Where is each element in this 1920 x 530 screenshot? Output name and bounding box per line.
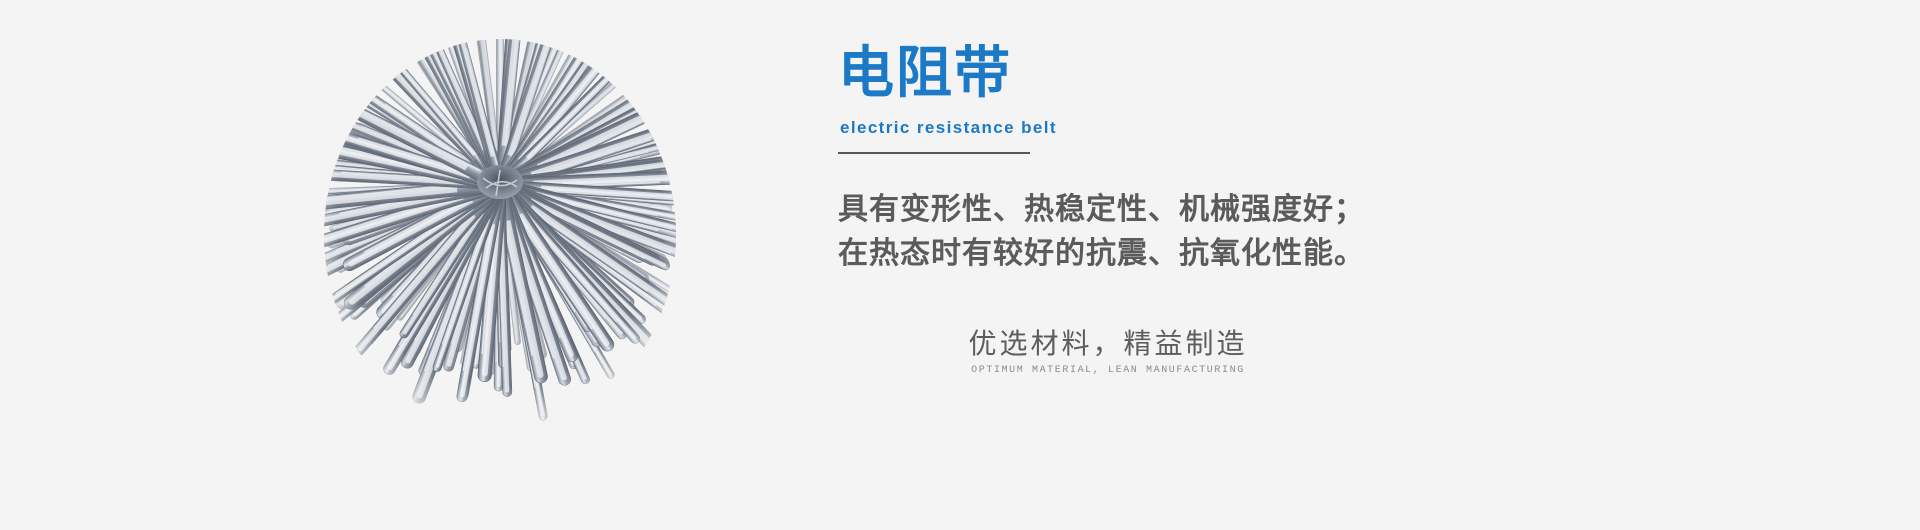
title-divider <box>838 152 1030 154</box>
description-line-2: 在热态时有较好的抗震、抗氧化性能。 <box>838 232 1365 276</box>
slogan-block: 优选材料，精益制造 OPTIMUM MATERIAL, LEAN MANUFAC… <box>948 325 1268 378</box>
page-subtitle: electric resistance belt <box>840 117 1057 139</box>
slogan-zh: 优选材料，精益制造 <box>948 325 1268 363</box>
description-line-1: 具有变形性、热稳定性、机械强度好； <box>838 188 1365 232</box>
page-title: 电阻带 <box>838 41 1012 105</box>
product-banner: 电阻带 electric resistance belt 具有变形性、热稳定性、… <box>0 0 1920 530</box>
edge-haze <box>310 30 690 430</box>
slogan-en: OPTIMUM MATERIAL, LEAN MANUFACTURING <box>948 364 1268 378</box>
text-column: 电阻带 electric resistance belt 具有变形性、热稳定性、… <box>838 0 1838 530</box>
product-image-stage <box>300 30 700 430</box>
product-description: 具有变形性、热稳定性、机械强度好； 在热态时有较好的抗震、抗氧化性能。 <box>838 188 1365 276</box>
resistance-belt-illustration <box>300 30 700 430</box>
product-image <box>300 30 700 430</box>
